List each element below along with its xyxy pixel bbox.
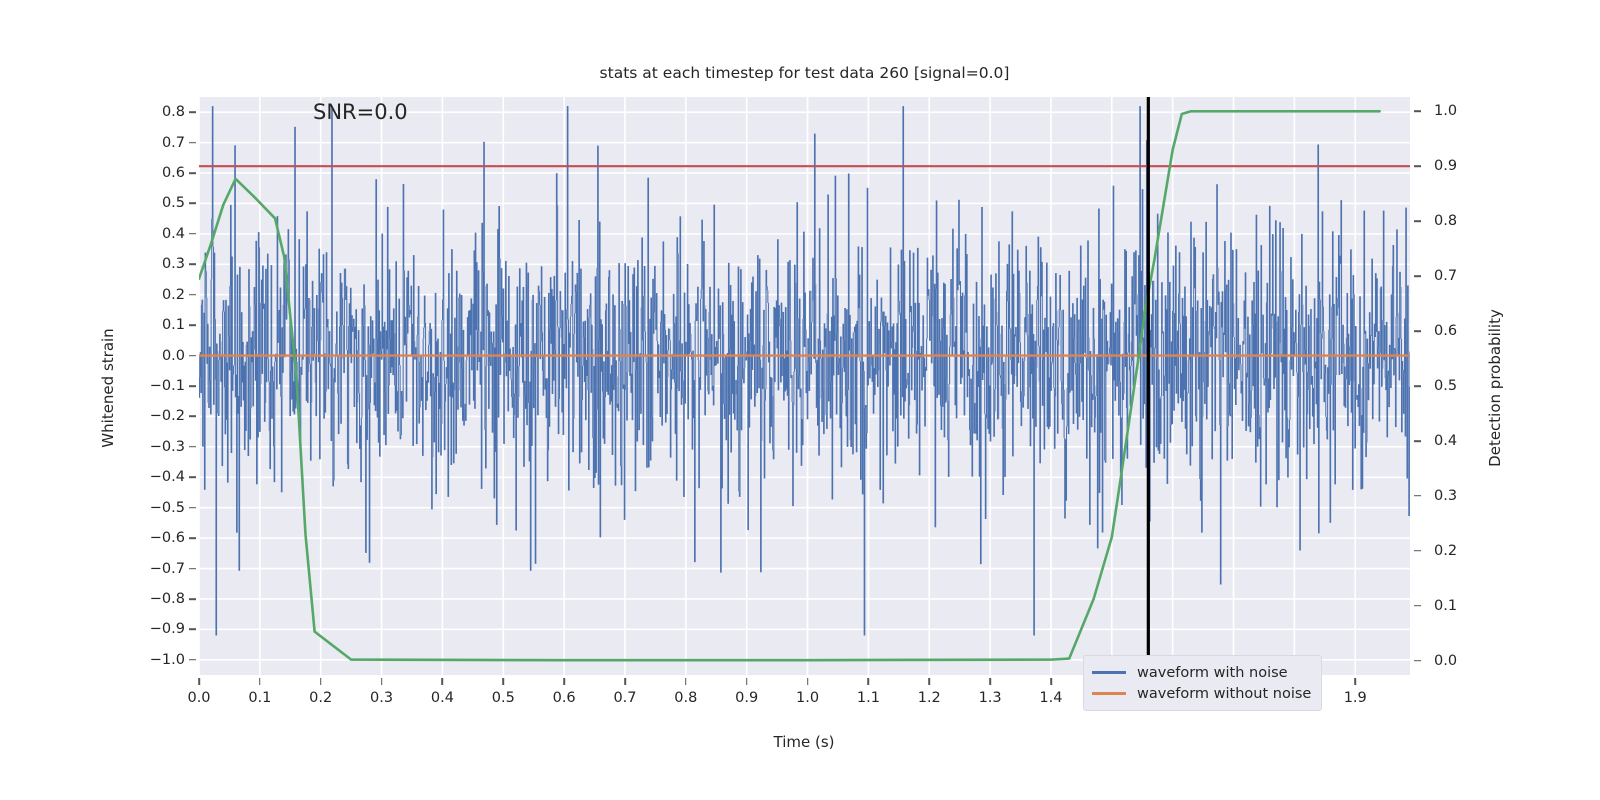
y-axis-right-tick-label: 0.2 bbox=[1434, 543, 1457, 559]
x-axis-tick-label: 1.0 bbox=[796, 690, 819, 706]
y-axis-left-tick-mark bbox=[189, 476, 196, 478]
x-axis-tick-label: 1.2 bbox=[918, 690, 941, 706]
x-axis-tick-label: 0.7 bbox=[613, 690, 636, 706]
y-axis-left-tick-mark bbox=[189, 111, 196, 113]
y-axis-right-tick-label: 0.8 bbox=[1434, 213, 1457, 229]
detection-probability-series bbox=[199, 111, 1380, 660]
y-axis-left-tick-label: 0.2 bbox=[162, 287, 185, 303]
x-axis-tick-mark bbox=[685, 678, 687, 685]
legend-item: waveform with noise bbox=[1092, 662, 1311, 683]
y-axis-left-tick-mark bbox=[189, 568, 196, 570]
y-axis-left-tick-label: −0.3 bbox=[150, 439, 185, 455]
plot-area bbox=[199, 97, 1410, 675]
x-axis-tick-label: 0.9 bbox=[735, 690, 758, 706]
y-axis-right-tick-mark bbox=[1414, 385, 1421, 387]
y-axis-left-tick-mark bbox=[189, 294, 196, 296]
y-axis-right-tick-label: 0.0 bbox=[1434, 653, 1457, 669]
y-axis-right-tick-mark bbox=[1414, 605, 1421, 607]
x-axis-tick-label: 1.1 bbox=[857, 690, 880, 706]
y-axis-left-tick-label: −0.8 bbox=[150, 591, 185, 607]
legend-item: waveform without noise bbox=[1092, 683, 1311, 704]
x-axis-tick-mark bbox=[624, 678, 626, 685]
x-axis-tick-label: 0.0 bbox=[187, 690, 210, 706]
x-axis-label: Time (s) bbox=[774, 733, 835, 751]
y-axis-left-tick-mark bbox=[189, 598, 196, 600]
y-axis-left-tick-label: −0.9 bbox=[150, 621, 185, 637]
x-axis-tick-label: 0.1 bbox=[248, 690, 271, 706]
x-axis-tick-mark bbox=[1050, 678, 1052, 685]
y-axis-left-tick-label: −0.4 bbox=[150, 469, 185, 485]
chart-title: stats at each timestep for test data 260… bbox=[199, 64, 1410, 82]
y-axis-right-tick-mark bbox=[1414, 165, 1421, 167]
figure-canvas: stats at each timestep for test data 260… bbox=[0, 0, 1600, 800]
x-axis-tick-mark bbox=[807, 678, 809, 685]
y-axis-right-tick-mark bbox=[1414, 550, 1421, 552]
y-axis-left-tick-mark bbox=[189, 203, 196, 205]
x-axis-tick-mark bbox=[381, 678, 383, 685]
y-axis-left-tick-label: 0.7 bbox=[162, 135, 185, 151]
y-axis-left-tick-label: −0.2 bbox=[150, 408, 185, 424]
legend-swatch bbox=[1092, 671, 1126, 674]
x-axis-tick-mark bbox=[989, 678, 991, 685]
y-axis-left-tick-mark bbox=[189, 142, 196, 144]
y-axis-left-tick-label: 0.6 bbox=[162, 165, 185, 181]
y-axis-left-tick-label: −0.5 bbox=[150, 500, 185, 516]
snr-annotation: SNR=0.0 bbox=[313, 100, 408, 124]
y-axis-left-label: Whitened strain bbox=[99, 328, 117, 447]
legend-label: waveform with noise bbox=[1137, 665, 1288, 681]
x-axis-tick-mark bbox=[868, 678, 870, 685]
x-axis-tick-mark bbox=[320, 678, 322, 685]
x-axis-tick-label: 1.9 bbox=[1344, 690, 1367, 706]
x-axis-tick-label: 0.6 bbox=[553, 690, 576, 706]
y-axis-left-tick-mark bbox=[189, 537, 196, 539]
y-axis-left-tick-label: 0.4 bbox=[162, 226, 185, 242]
y-axis-left-tick-label: 0.1 bbox=[162, 317, 185, 333]
y-axis-left-tick-mark bbox=[189, 446, 196, 448]
legend-label: waveform without noise bbox=[1137, 686, 1311, 702]
y-axis-left-tick-mark bbox=[189, 233, 196, 235]
y-axis-left-tick-mark bbox=[189, 385, 196, 387]
x-axis-tick-mark bbox=[198, 678, 200, 685]
y-axis-right-tick-mark bbox=[1414, 660, 1421, 662]
y-axis-right-tick-mark bbox=[1414, 110, 1421, 112]
y-axis-right-tick-mark bbox=[1414, 330, 1421, 332]
chart-legend: waveform with noisewaveform without nois… bbox=[1083, 655, 1322, 711]
y-axis-left-tick-mark bbox=[189, 172, 196, 174]
x-axis-tick-label: 0.8 bbox=[674, 690, 697, 706]
y-axis-left-tick-mark bbox=[189, 264, 196, 266]
y-axis-right-tick-label: 0.3 bbox=[1434, 488, 1457, 504]
y-axis-left-tick-label: −0.6 bbox=[150, 530, 185, 546]
x-axis-tick-label: 0.3 bbox=[370, 690, 393, 706]
x-axis-tick-mark bbox=[928, 678, 930, 685]
y-axis-right-tick-label: 1.0 bbox=[1434, 103, 1457, 119]
y-axis-right-tick-label: 0.1 bbox=[1434, 598, 1457, 614]
x-axis-tick-mark bbox=[259, 678, 261, 685]
x-axis-tick-label: 0.2 bbox=[309, 690, 332, 706]
y-axis-right-tick-mark bbox=[1414, 220, 1421, 222]
x-axis-tick-mark bbox=[1354, 678, 1356, 685]
y-axis-left-tick-label: 0.0 bbox=[162, 348, 185, 364]
y-axis-left-tick-mark bbox=[189, 507, 196, 509]
y-axis-right-tick-label: 0.9 bbox=[1434, 158, 1457, 174]
overlay-lines-layer bbox=[199, 97, 1410, 675]
x-axis-tick-mark bbox=[502, 678, 504, 685]
y-axis-left-tick-label: 0.3 bbox=[162, 256, 185, 272]
x-axis-tick-label: 1.4 bbox=[1039, 690, 1062, 706]
legend-swatch bbox=[1092, 692, 1126, 695]
x-axis-tick-mark bbox=[746, 678, 748, 685]
y-axis-left-tick-label: −1.0 bbox=[150, 652, 185, 668]
y-axis-left-tick-mark bbox=[189, 324, 196, 326]
x-axis-tick-label: 0.4 bbox=[431, 690, 454, 706]
x-axis-tick-mark bbox=[563, 678, 565, 685]
y-axis-left-tick-label: 0.5 bbox=[162, 195, 185, 211]
y-axis-left-tick-label: −0.1 bbox=[150, 378, 185, 394]
y-axis-right-tick-label: 0.5 bbox=[1434, 378, 1457, 394]
x-axis-tick-label: 0.5 bbox=[492, 690, 515, 706]
x-axis-tick-mark bbox=[442, 678, 444, 685]
y-axis-right-tick-label: 0.7 bbox=[1434, 268, 1457, 284]
y-axis-right-label: Detection probability bbox=[1486, 309, 1504, 467]
y-axis-right-tick-mark bbox=[1414, 275, 1421, 277]
y-axis-left-tick-mark bbox=[189, 659, 196, 661]
y-axis-left-tick-label: −0.7 bbox=[150, 561, 185, 577]
y-axis-right-tick-mark bbox=[1414, 495, 1421, 497]
y-axis-right-tick-label: 0.6 bbox=[1434, 323, 1457, 339]
x-axis-tick-label: 1.3 bbox=[979, 690, 1002, 706]
y-axis-right-tick-label: 0.4 bbox=[1434, 433, 1457, 449]
y-axis-left-tick-mark bbox=[189, 416, 196, 418]
y-axis-left-tick-mark bbox=[189, 629, 196, 631]
y-axis-left-tick-mark bbox=[189, 355, 196, 357]
y-axis-right-tick-mark bbox=[1414, 440, 1421, 442]
y-axis-left-tick-label: 0.8 bbox=[162, 104, 185, 120]
